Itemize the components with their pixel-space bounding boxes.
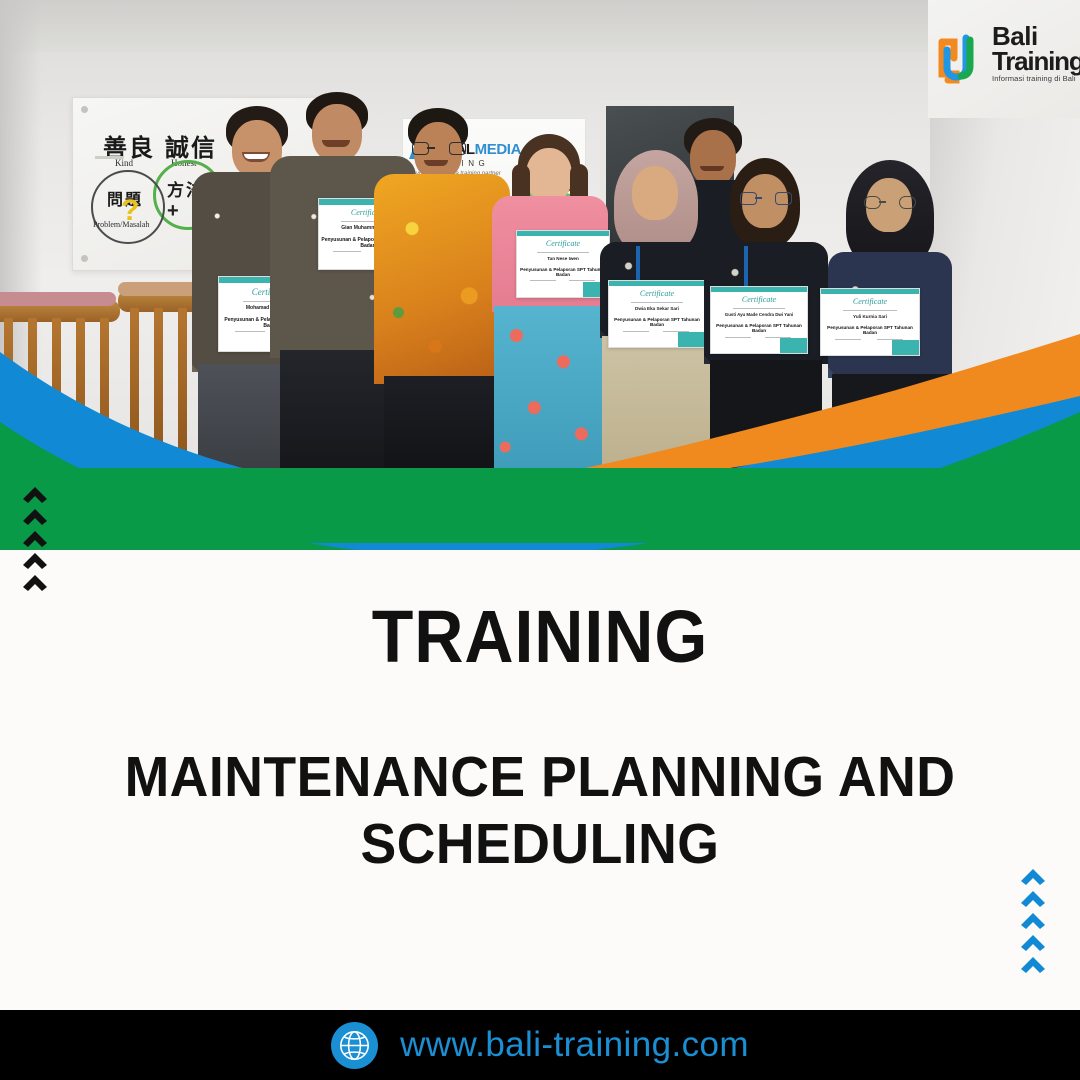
globe-icon bbox=[331, 1022, 378, 1069]
chevron-up-icon bbox=[22, 572, 48, 598]
page-subtitle: MAINTENANCE PLANNING AND SCHEDULING bbox=[65, 744, 1014, 879]
footer-bar: www.bali-training.com bbox=[0, 1010, 1080, 1080]
logo-line2: Training bbox=[992, 49, 1080, 74]
photo-ceiling bbox=[0, 0, 1080, 52]
logo-line1: Bali bbox=[992, 24, 1080, 49]
green-band bbox=[0, 468, 1080, 543]
website-url[interactable]: www.bali-training.com bbox=[400, 1025, 749, 1065]
whiteboard-en-kind: Kind bbox=[115, 158, 133, 168]
logo-tagline: Informasi training di Bali bbox=[992, 74, 1080, 83]
left-chevron-group bbox=[22, 484, 52, 596]
whiteboard-plus: + bbox=[167, 200, 179, 223]
title-block: TRAINING MAINTENANCE PLANNING AND SCHEDU… bbox=[0, 600, 1080, 879]
right-chevron-group bbox=[1020, 866, 1050, 978]
whiteboard-en-problem: Problem/Masalah bbox=[93, 220, 149, 229]
brand-logo: Bali Training Informasi training di Bali bbox=[928, 0, 1080, 118]
certificate: Certificate Tan Nese Iwen Penyusunan & P… bbox=[516, 230, 610, 298]
chevron-up-icon bbox=[1020, 954, 1046, 980]
page-title: TRAINING bbox=[43, 600, 1037, 674]
poster-canvas: 善良 Kind 誠信 Honest 和 方法 問題 ? Problem/Masa… bbox=[0, 0, 1080, 1080]
open-book-icon bbox=[936, 28, 994, 86]
